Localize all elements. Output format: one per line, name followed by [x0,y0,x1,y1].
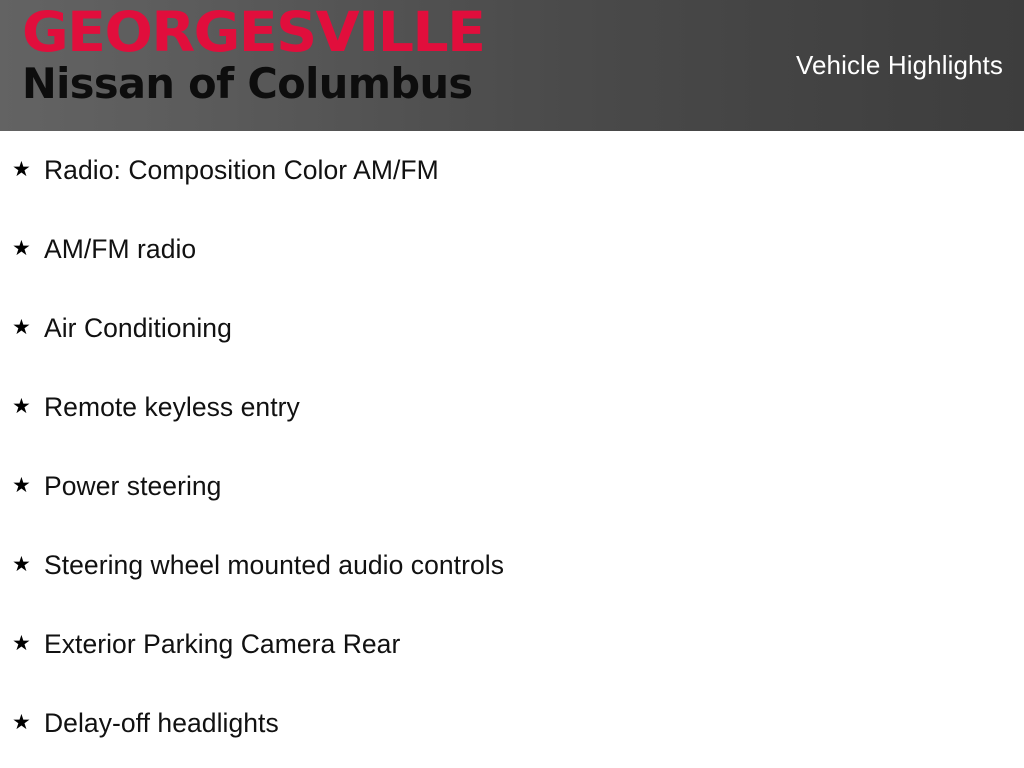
highlight-label: AM/FM radio [44,234,196,265]
star-icon: ★ [12,238,34,259]
highlight-label: Air Conditioning [44,313,232,344]
list-item: ★ Air Conditioning [0,289,1024,368]
list-item: ★ Exterior Parking Camera Rear [0,605,1024,684]
star-icon: ★ [12,396,34,417]
star-icon: ★ [12,554,34,575]
list-item: ★ Delay-off headlights [0,684,1024,763]
star-icon: ★ [12,475,34,496]
dealership-logo[interactable]: GEORGESVILLE Nissan of Columbus [22,4,582,126]
page-title: Vehicle Highlights [796,50,1003,81]
star-icon: ★ [12,633,34,654]
list-item: ★ Power steering [0,447,1024,526]
star-icon: ★ [12,317,34,338]
list-item: ★ Remote keyless entry [0,368,1024,447]
highlight-label: Delay-off headlights [44,708,279,739]
highlight-label: Exterior Parking Camera Rear [44,629,400,660]
highlight-label: Radio: Composition Color AM/FM [44,155,439,186]
list-item: ★ Steering wheel mounted audio controls [0,526,1024,605]
highlight-label: Steering wheel mounted audio controls [44,550,504,581]
vehicle-highlights-page: GEORGESVILLE Nissan of Columbus Vehicle … [0,0,1024,768]
list-item: ★ Radio: Composition Color AM/FM [0,131,1024,210]
logo-dealership-name: Nissan of Columbus [22,62,582,106]
highlight-label: Power steering [44,471,221,502]
logo-brand-name: GEORGESVILLE [22,4,602,60]
highlight-label: Remote keyless entry [44,392,300,423]
star-icon: ★ [12,159,34,180]
list-item: ★ AM/FM radio [0,210,1024,289]
dealership-header: GEORGESVILLE Nissan of Columbus Vehicle … [0,0,1024,131]
vehicle-highlights-list: ★ Radio: Composition Color AM/FM ★ AM/FM… [0,131,1024,763]
star-icon: ★ [12,712,34,733]
